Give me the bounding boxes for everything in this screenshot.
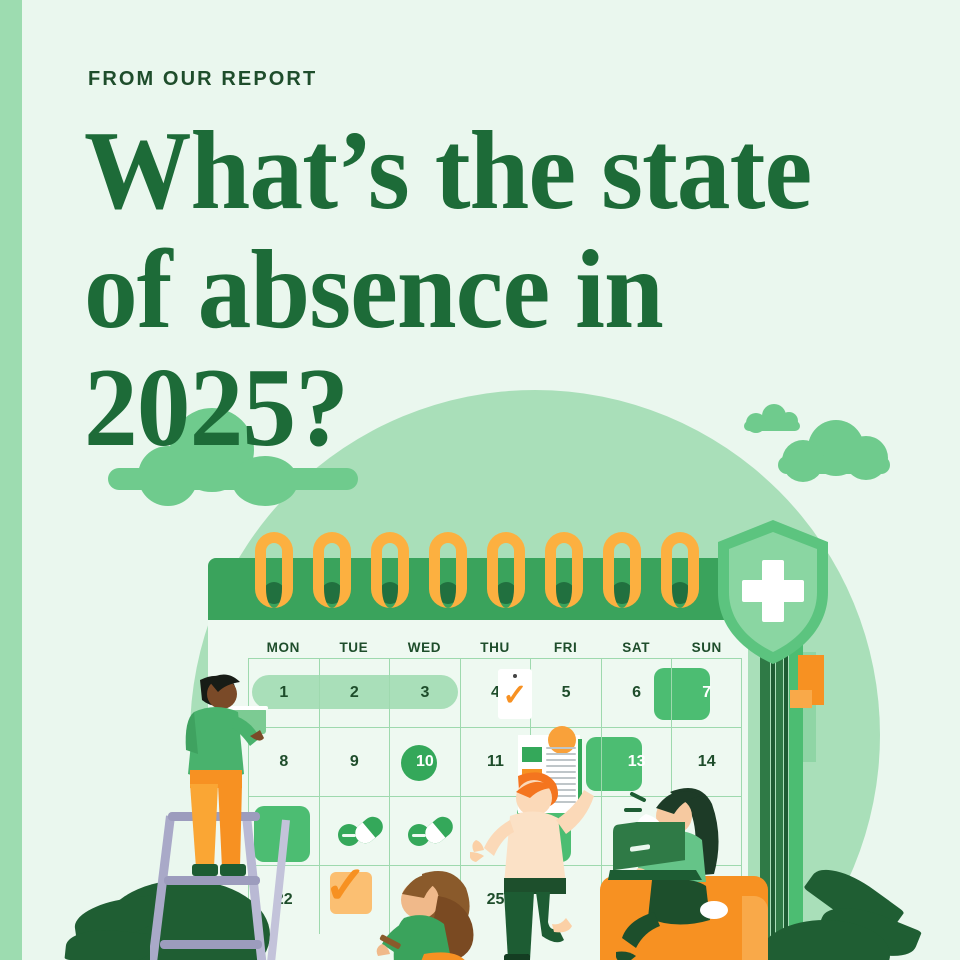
dow-fri: FRI [530,640,601,655]
date-number: 5 [562,684,571,702]
calendar-cell[interactable]: 9 [319,727,390,796]
laptop-icon [608,822,704,884]
spiral-ring-icon [487,532,525,608]
date-number: 6 [632,684,641,702]
note-card-with-check: ✓ [498,669,532,719]
dow-thu: THU [460,640,531,655]
left-accent-bar [0,0,22,960]
date-number: 14 [698,753,716,771]
calendar-cell[interactable]: 10 [389,727,460,796]
date-number: 9 [350,753,359,771]
dow-wed: WED [389,640,460,655]
date-number: 7 [702,684,711,702]
calendar-cell[interactable]: 6 [601,658,672,727]
spiral-ring-icon [661,532,699,608]
orange-shelf-marker-small [790,690,812,708]
dow-mon: MON [248,640,319,655]
dow-sat: SAT [601,640,672,655]
date-number: 2 [350,684,359,702]
date-number: 13 [628,753,646,771]
spiral-ring-icon [429,532,467,608]
calendar-dow-header: MON TUE WED THU FRI SAT SUN [248,640,742,655]
dow-tue: TUE [319,640,390,655]
date-number: 3 [420,684,429,702]
checkmark-icon: ✓ [502,681,527,711]
checkmark-icon: ✓ [324,860,368,912]
character-man-on-ladder [178,672,288,912]
date-number: 11 [487,753,504,771]
pill-icon [338,820,382,846]
calendar-cell[interactable]: 2 [319,658,390,727]
poster-canvas: MON TUE WED THU FRI SAT SUN 1 2 3 4 5 6 … [0,0,960,960]
spiral-ring-icon [545,532,583,608]
pill-icon [408,820,452,846]
calendar-cell[interactable]: 7 [671,658,742,727]
spiral-ring-icon [603,532,641,608]
checkbox-checked-icon[interactable]: ✓ [330,872,372,914]
character-woman-with-pen [368,868,498,960]
date-number: 10 [416,753,434,771]
spiral-ring-icon [255,532,293,608]
eyebrow-label: FROM OUR REPORT [88,68,317,91]
calendar-cell[interactable]: 5 [530,658,601,727]
medical-shield-icon [714,518,832,666]
spiral-ring-icon [371,532,409,608]
calendar-cell[interactable]: 3 [389,658,460,727]
page-title: What’s the state of absence in 2025? [84,112,910,468]
spiral-ring-icon [313,532,351,608]
